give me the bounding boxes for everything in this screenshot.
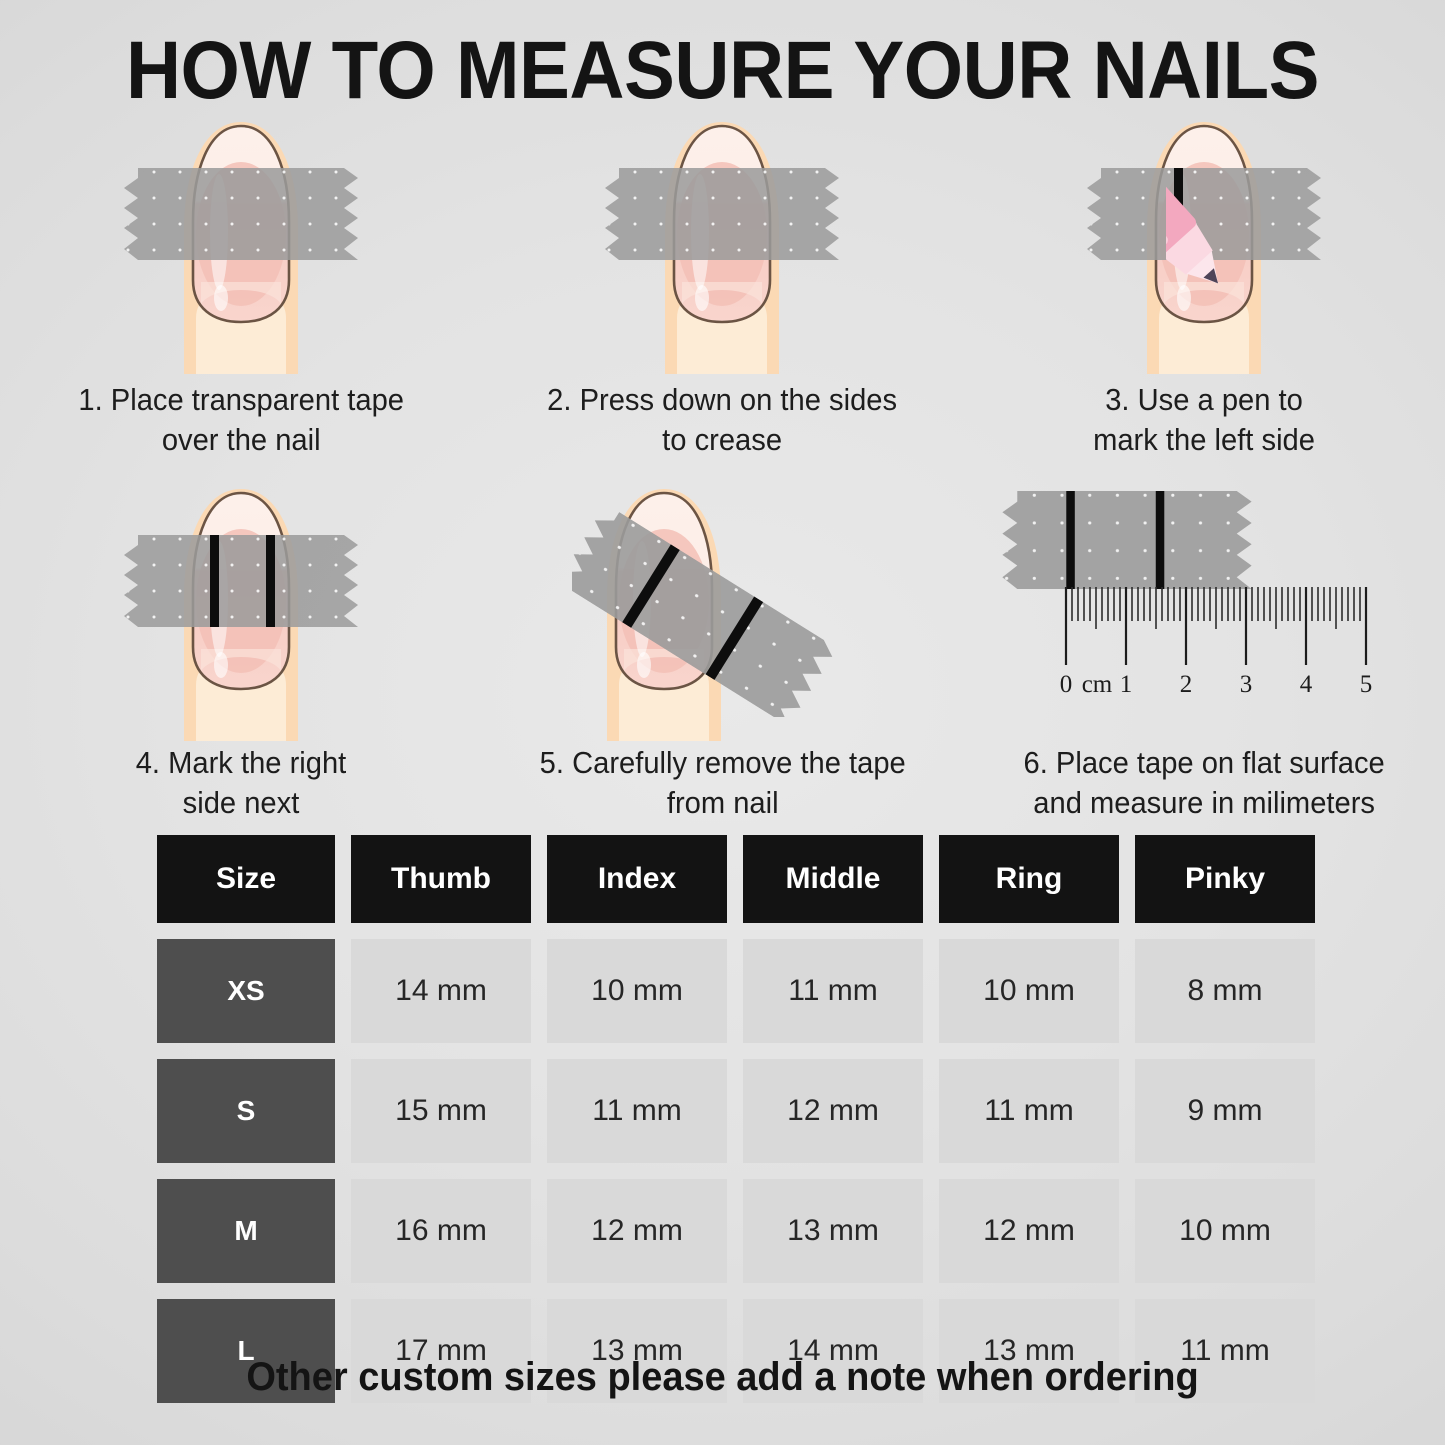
mark-left bbox=[210, 535, 219, 627]
step-4: 4. Mark the right side next bbox=[0, 479, 482, 822]
tape-on-ruler-icon: 0 cm 1 2 3 4 5 bbox=[994, 479, 1414, 737]
step-3-line-1: 3. Use a pen to bbox=[1093, 380, 1315, 420]
cell-m-middle: 13 mm bbox=[743, 1179, 923, 1283]
table-header-index: Index bbox=[547, 835, 727, 923]
ruler-unit-label: cm bbox=[1082, 671, 1113, 699]
table-header-pinky: Pinky bbox=[1135, 835, 1315, 923]
table-header-thumb: Thumb bbox=[351, 835, 531, 923]
step-5-caption: 5. Carefully remove the tape from nail bbox=[539, 743, 905, 822]
ruler-tick-1: 1 bbox=[1120, 671, 1133, 699]
step-6-caption: 6. Place tape on flat surface and measur… bbox=[1023, 743, 1384, 822]
table-row: M 16 mm 12 mm 13 mm 12 mm 10 mm bbox=[157, 1179, 1322, 1283]
cell-xs-thumb: 14 mm bbox=[351, 939, 531, 1043]
ruler-tick-0: 0 bbox=[1060, 671, 1073, 699]
footer-note: Other custom sizes please add a note whe… bbox=[36, 1355, 1409, 1400]
step-4-caption: 4. Mark the right side next bbox=[136, 743, 347, 822]
step-3-caption: 3. Use a pen to mark the left side bbox=[1093, 380, 1315, 459]
step-5: 5. Carefully remove the tape from nail bbox=[482, 479, 964, 822]
step-5-line-1: 5. Carefully remove the tape bbox=[539, 743, 905, 783]
step-1-caption: 1. Place transparent tape over the nail bbox=[78, 380, 404, 459]
step-1-line-1: 1. Place transparent tape bbox=[78, 380, 404, 420]
ruler-tick-2: 2 bbox=[1180, 671, 1193, 699]
step-4-line-2: side next bbox=[136, 783, 347, 823]
step-6: 0 cm 1 2 3 4 5 6. Place tape on flat sur… bbox=[963, 479, 1445, 822]
cell-s-pinky: 9 mm bbox=[1135, 1059, 1315, 1163]
step-2: 2. Press down on the sides to crease bbox=[482, 112, 964, 459]
cell-s-thumb: 15 mm bbox=[351, 1059, 531, 1163]
finger-tape-creased-icon bbox=[512, 112, 932, 374]
finger-with-tape-icon bbox=[31, 112, 451, 374]
step-1: 1. Place transparent tape over the nail bbox=[0, 112, 482, 459]
step-4-line-1: 4. Mark the right bbox=[136, 743, 347, 783]
steps-grid: 1. Place transparent tape over the nail bbox=[0, 112, 1445, 823]
table-header-middle: Middle bbox=[743, 835, 923, 923]
finger-tape-two-marks-icon bbox=[31, 479, 451, 737]
cell-s-index: 11 mm bbox=[547, 1059, 727, 1163]
cell-m-pinky: 10 mm bbox=[1135, 1179, 1315, 1283]
size-table: Size Thumb Index Middle Ring Pinky XS 14… bbox=[157, 835, 1322, 1403]
size-label-m: M bbox=[157, 1179, 335, 1283]
cell-xs-index: 10 mm bbox=[547, 939, 727, 1043]
table-row: XS 14 mm 10 mm 11 mm 10 mm 8 mm bbox=[157, 939, 1322, 1043]
ruler-tick-3: 3 bbox=[1240, 671, 1253, 699]
step-2-caption: 2. Press down on the sides to crease bbox=[547, 380, 897, 459]
infographic-page: HOW TO MEASURE YOUR NAILS bbox=[0, 0, 1445, 1445]
steps-row-1: 1. Place transparent tape over the nail bbox=[0, 112, 1445, 459]
cell-s-ring: 11 mm bbox=[939, 1059, 1119, 1163]
page-title: HOW TO MEASURE YOUR NAILS bbox=[51, 24, 1395, 118]
table-header-row: Size Thumb Index Middle Ring Pinky bbox=[157, 835, 1322, 923]
ruler-tick-4: 4 bbox=[1300, 671, 1313, 699]
step-6-line-1: 6. Place tape on flat surface bbox=[1023, 743, 1384, 783]
table-row: S 15 mm 11 mm 12 mm 11 mm 9 mm bbox=[157, 1059, 1322, 1163]
table-header-size: Size bbox=[157, 835, 335, 923]
step-3-line-2: mark the left side bbox=[1093, 420, 1315, 460]
size-label-s: S bbox=[157, 1059, 335, 1163]
finger-tape-pen-icon bbox=[994, 112, 1414, 374]
finger-tape-peeled-icon bbox=[512, 479, 932, 737]
step-2-line-2: to crease bbox=[547, 420, 897, 460]
ruler-tick-5: 5 bbox=[1360, 671, 1373, 699]
step-6-line-2: and measure in milimeters bbox=[1023, 783, 1384, 823]
cell-xs-pinky: 8 mm bbox=[1135, 939, 1315, 1043]
step-3: 3. Use a pen to mark the left side bbox=[963, 112, 1445, 459]
size-label-xs: XS bbox=[157, 939, 335, 1043]
cell-m-ring: 12 mm bbox=[939, 1179, 1119, 1283]
cell-m-index: 12 mm bbox=[547, 1179, 727, 1283]
step-5-line-2: from nail bbox=[539, 783, 905, 823]
cell-s-middle: 12 mm bbox=[743, 1059, 923, 1163]
step-2-line-1: 2. Press down on the sides bbox=[547, 380, 897, 420]
cell-m-thumb: 16 mm bbox=[351, 1179, 531, 1283]
table-header-ring: Ring bbox=[939, 835, 1119, 923]
ruler-scale bbox=[994, 479, 1414, 737]
cell-xs-middle: 11 mm bbox=[743, 939, 923, 1043]
steps-row-2: 4. Mark the right side next bbox=[0, 479, 1445, 822]
mark-right bbox=[266, 535, 275, 627]
step-1-line-2: over the nail bbox=[78, 420, 404, 460]
cell-xs-ring: 10 mm bbox=[939, 939, 1119, 1043]
